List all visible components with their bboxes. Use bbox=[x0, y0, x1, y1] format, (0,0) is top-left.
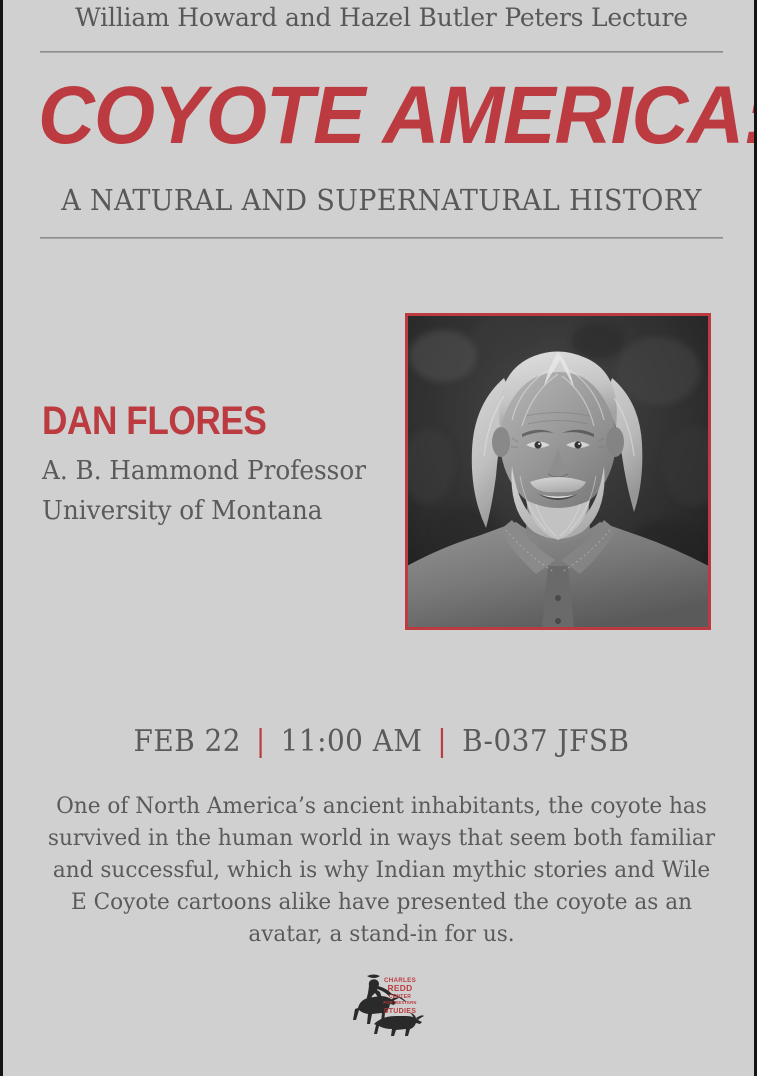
speaker-affiliation: University of Montana bbox=[42, 491, 323, 531]
logo-line-5: STUDIES bbox=[384, 1008, 416, 1015]
event-location: B-037 JFSB bbox=[462, 724, 629, 759]
event-description: One of North America’s ancient inhabitan… bbox=[47, 790, 716, 950]
lecture-series-title: William Howard and Hazel Butler Peters L… bbox=[3, 2, 757, 34]
event-separator-1: | bbox=[250, 724, 271, 759]
speaker-portrait-frame bbox=[405, 313, 711, 630]
speaker-title: A. B. Hammond Professor bbox=[42, 451, 366, 491]
event-details: FEB 22 | 11:00 AM | B-037 JFSB bbox=[29, 722, 733, 762]
charles-redd-center-logo: CHARLES REDD CENTER FOR WESTERN STUDIES bbox=[344, 972, 426, 1038]
event-separator-2: | bbox=[432, 724, 453, 759]
redd-center-logo-mark: CHARLES REDD CENTER FOR WESTERN STUDIES bbox=[344, 972, 426, 1038]
divider-bottom bbox=[40, 237, 723, 239]
event-poster: William Howard and Hazel Butler Peters L… bbox=[0, 0, 757, 1076]
event-date: FEB 22 bbox=[134, 724, 241, 759]
page-title: COYOTE AMERICA: bbox=[38, 68, 700, 164]
logo-line-2: REDD bbox=[388, 983, 413, 993]
page-subtitle: A NATURAL AND SUPERNATURAL HISTORY bbox=[29, 182, 733, 218]
speaker-name: DAN FLORES bbox=[42, 398, 266, 444]
speaker-portrait-image bbox=[408, 316, 708, 627]
logo-line-4: FOR WESTERN bbox=[383, 1000, 416, 1005]
divider-top bbox=[40, 51, 723, 53]
event-time: 11:00 AM bbox=[281, 724, 423, 759]
